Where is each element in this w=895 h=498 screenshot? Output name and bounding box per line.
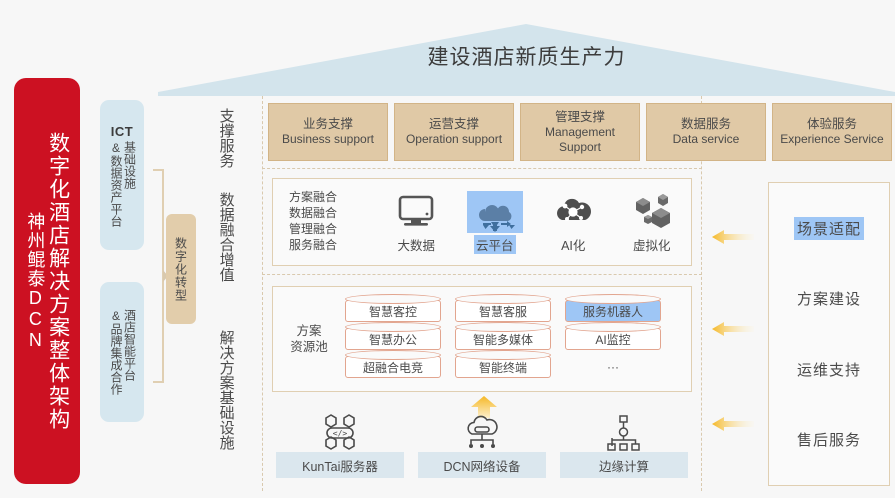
resource-pool-item[interactable]: 智慧客服 [455, 300, 551, 322]
right-services-panel: 场景适配方案建设运维支持售后服务 [768, 182, 890, 486]
resource-pool-item[interactable]: 智慧客控 [345, 300, 441, 322]
fusion-item[interactable]: 云平台 [462, 191, 528, 254]
fusion-items: 大数据云平台AI化虚拟化 [377, 191, 691, 254]
support-service-cn: 业务支撑 [303, 117, 353, 132]
server-nodes-icon: </> [318, 418, 362, 448]
resource-pool-grid: 智慧客控智慧客服服务机器人智慧办公智能多媒体AI监控超融合电竞智能终端··· [345, 300, 691, 378]
cubes-icon [630, 191, 674, 233]
row-label-support: 支撑服务 [196, 108, 256, 168]
resource-pool-panel: 方案资源池 智慧客控智慧客服服务机器人智慧办公智能多媒体AI监控超融合电竞智能终… [272, 286, 692, 392]
row-label-fusion-text: 数据融合增值 [217, 192, 234, 282]
fusion-item-label: 大数据 [397, 235, 435, 254]
support-service-cn: 管理支撑 [555, 110, 605, 125]
fusion-text-lines: 方案融合数据融合管理融合服务融合 [273, 190, 377, 253]
resource-pool-row: 超融合电竞智能终端··· [345, 356, 681, 378]
support-service-en: Business support [282, 132, 374, 147]
edge-tree-icon [604, 418, 644, 448]
support-service-en: Operation support [406, 132, 502, 147]
support-service-cn: 体验服务 [807, 117, 857, 132]
resource-pool-item[interactable]: AI监控 [565, 328, 661, 350]
resource-pool-more: ··· [565, 356, 661, 378]
support-service-box[interactable]: 运营支撑Operation support [394, 103, 514, 161]
support-service-box[interactable]: 数据服务Data service [646, 103, 766, 161]
fusion-text-line: 服务融合 [289, 238, 377, 254]
infrastructure-item-label: DCN网络设备 [418, 452, 546, 478]
stage-ict-heading: ICT [111, 124, 133, 139]
support-service-box[interactable]: 管理支撑Management Support [520, 103, 640, 161]
right-service-item[interactable]: 运维支持 [794, 358, 864, 381]
resource-pool-label: 方案资源池 [273, 323, 345, 356]
diagram-canvas: 数字化酒店解决方案整体架构 神州鲲泰DCN 建设酒店新质生产力 ICT 基础设施… [0, 0, 895, 498]
row-label-infrastructure-text: 解决方案基础设施 [217, 330, 234, 450]
svg-text:</>: </> [333, 429, 348, 438]
stage-box-ict: ICT 基础设施 &数据资产平台 [100, 100, 144, 250]
right-service-item[interactable]: 场景适配 [794, 217, 864, 240]
resource-pool-label-line: 资源池 [273, 339, 345, 355]
fusion-text-line: 管理融合 [289, 222, 377, 238]
stage-box-hotel: 酒店智能平台 &品牌集成合作 [100, 282, 144, 422]
fusion-item[interactable]: 大数据 [383, 191, 449, 254]
right-service-item[interactable]: 售后服务 [794, 428, 864, 451]
fusion-item-label: AI化 [561, 235, 585, 254]
infrastructure-row: </>KunTai服务器DCN网络设备边缘计算 [276, 418, 688, 480]
cloud-network-icon [459, 418, 505, 448]
section-divider-2 [262, 274, 702, 275]
support-service-box[interactable]: 业务支撑Business support [268, 103, 388, 161]
support-services-row: 业务支撑Business support运营支撑Operation suppor… [268, 103, 892, 161]
fusion-item[interactable]: 虚拟化 [619, 191, 685, 254]
resource-pool-item[interactable]: 智慧办公 [345, 328, 441, 350]
infrastructure-item-label: KunTai服务器 [276, 452, 404, 478]
cloud-sync-icon [467, 191, 523, 233]
resource-pool-row: 智慧客控智慧客服服务机器人 [345, 300, 681, 322]
resource-pool-item[interactable]: 智能多媒体 [455, 328, 551, 350]
support-service-cn: 运营支撑 [429, 117, 479, 132]
row-label-infrastructure: 解决方案基础设施 [196, 330, 256, 450]
resource-pool-item[interactable]: 智能终端 [455, 356, 551, 378]
title-banner: 数字化酒店解决方案整体架构 神州鲲泰DCN [14, 78, 80, 484]
support-service-en: Experience Service [780, 132, 883, 147]
row-label-fusion: 数据融合增值 [196, 192, 256, 282]
left-arrow-icon-1 [712, 228, 754, 246]
banner-sub-title: 神州鲲泰DCN [25, 212, 44, 351]
resource-pool-row: 智慧办公智能多媒体AI监控 [345, 328, 681, 350]
infrastructure-item[interactable]: </>KunTai服务器 [276, 418, 404, 480]
roof-title: 建设酒店新质生产力 [158, 24, 895, 96]
banner-main-title: 数字化酒店解决方案整体架构 [46, 132, 68, 431]
fusion-text-line: 方案融合 [289, 190, 377, 206]
transform-label: 数字化转型 [173, 237, 190, 302]
fusion-item-label: 云平台 [474, 235, 516, 254]
ai-cloud-icon [551, 191, 595, 233]
data-fusion-panel: 方案融合数据融合管理融合服务融合 大数据云平台AI化虚拟化 [272, 178, 692, 266]
fusion-item[interactable]: AI化 [540, 191, 606, 254]
stage-ict-col-left: &数据资产平台 [109, 141, 122, 227]
roof-shape: 建设酒店新质生产力 [158, 24, 895, 96]
support-service-en: Management Support [523, 125, 637, 154]
support-service-en: Data service [673, 132, 740, 147]
infrastructure-item[interactable]: DCN网络设备 [418, 418, 546, 480]
stage-hotel-col-right: 酒店智能平台 [122, 309, 135, 395]
row-label-support-text: 支撑服务 [217, 108, 234, 168]
fusion-text-line: 数据融合 [289, 206, 377, 222]
support-service-cn: 数据服务 [681, 117, 731, 132]
section-divider-1 [262, 168, 702, 169]
resource-pool-item[interactable]: 超融合电竞 [345, 356, 441, 378]
digital-transformation-box: 数字化转型 [166, 214, 196, 324]
right-service-item[interactable]: 方案建设 [794, 287, 864, 310]
stage-hotel-col-left: &品牌集成合作 [109, 309, 122, 395]
resource-pool-item[interactable]: 服务机器人 [565, 300, 661, 322]
infrastructure-item-label: 边缘计算 [560, 452, 688, 478]
left-arrow-icon-3 [712, 415, 754, 433]
stage-ict-col-right: 基础设施 [122, 141, 135, 227]
monitor-icon [396, 191, 436, 233]
infrastructure-item[interactable]: 边缘计算 [560, 418, 688, 480]
fusion-item-label: 虚拟化 [633, 235, 671, 254]
resource-pool-label-line: 方案 [273, 323, 345, 339]
left-arrow-icon-2 [712, 320, 754, 338]
support-service-box[interactable]: 体验服务Experience Service [772, 103, 892, 161]
